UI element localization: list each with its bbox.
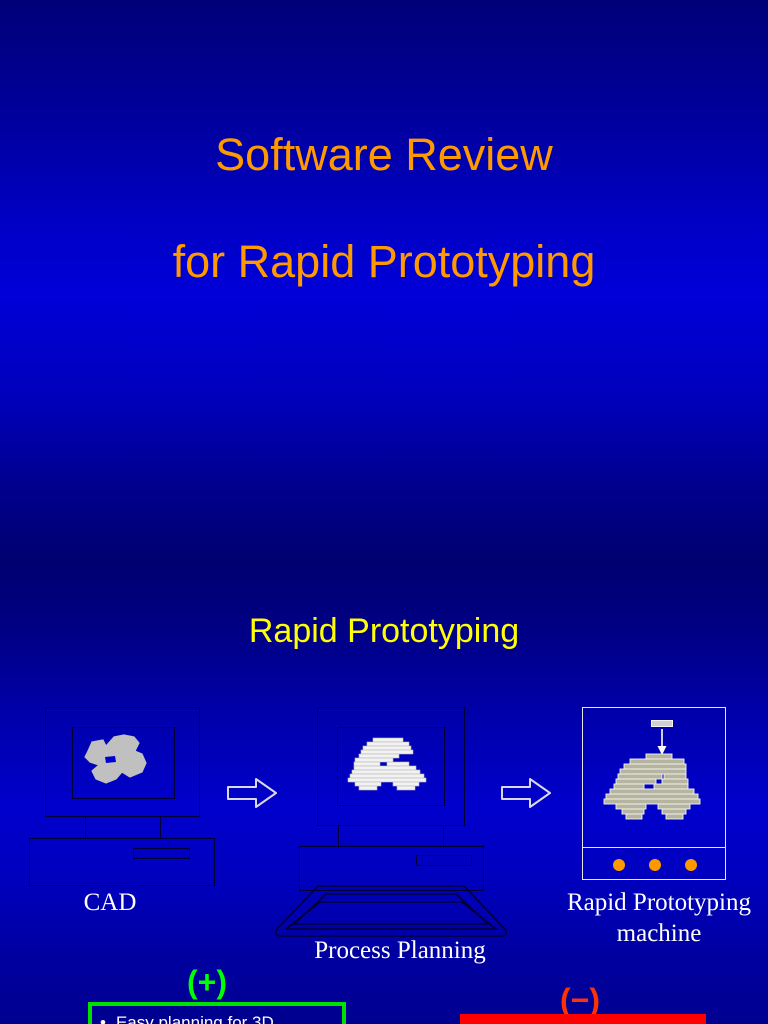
caption-rp-machine-line-2: machine	[617, 920, 702, 947]
rp-machine-build-head	[651, 720, 673, 727]
caption-cad: CAD	[20, 888, 200, 919]
caption-process-planning: Process Planning	[270, 936, 530, 967]
cad-monitor-neck-right	[160, 817, 161, 838]
sliced-model-icon	[337, 727, 445, 806]
keyboard-icon	[266, 884, 516, 942]
cons-list-box	[460, 1014, 706, 1024]
caption-rp-machine: Rapid Prototyping machine	[548, 888, 768, 949]
process-planning-drive-slot	[416, 855, 472, 866]
rapid-prototyping-workflow-diagram: CAD	[0, 0, 768, 1024]
rp-built-part-icon	[600, 752, 712, 838]
cad-3d-model-icon	[72, 727, 175, 799]
cad-drive-slot	[133, 848, 190, 859]
pros-sign: (+)	[140, 964, 274, 1001]
pros-list-item: •Easy planning for 3D	[100, 1013, 274, 1024]
process-planning-monitor-neck-right	[443, 826, 444, 846]
rp-machine-indicator-dot	[613, 859, 625, 871]
caption-rp-machine-line-1: Rapid Prototyping	[567, 889, 751, 916]
pros-list-box: •Easy planning for 3D	[88, 1002, 346, 1024]
rp-machine-indicator-dot	[649, 859, 661, 871]
cad-computer-base	[29, 838, 215, 886]
rp-machine-panel-divider	[582, 847, 726, 848]
cad-monitor-neck-left	[85, 817, 86, 838]
arrow-right-icon	[226, 776, 278, 810]
process-planning-monitor-neck-left	[338, 826, 339, 846]
rp-machine-indicator-dot	[685, 859, 697, 871]
pros-item-label: Easy planning for 3D	[116, 1013, 274, 1024]
arrow-right-icon	[500, 776, 552, 810]
bullet-icon: •	[100, 1013, 106, 1024]
presentation-slide: Software Review for Rapid Prototyping Ra…	[0, 0, 768, 1024]
